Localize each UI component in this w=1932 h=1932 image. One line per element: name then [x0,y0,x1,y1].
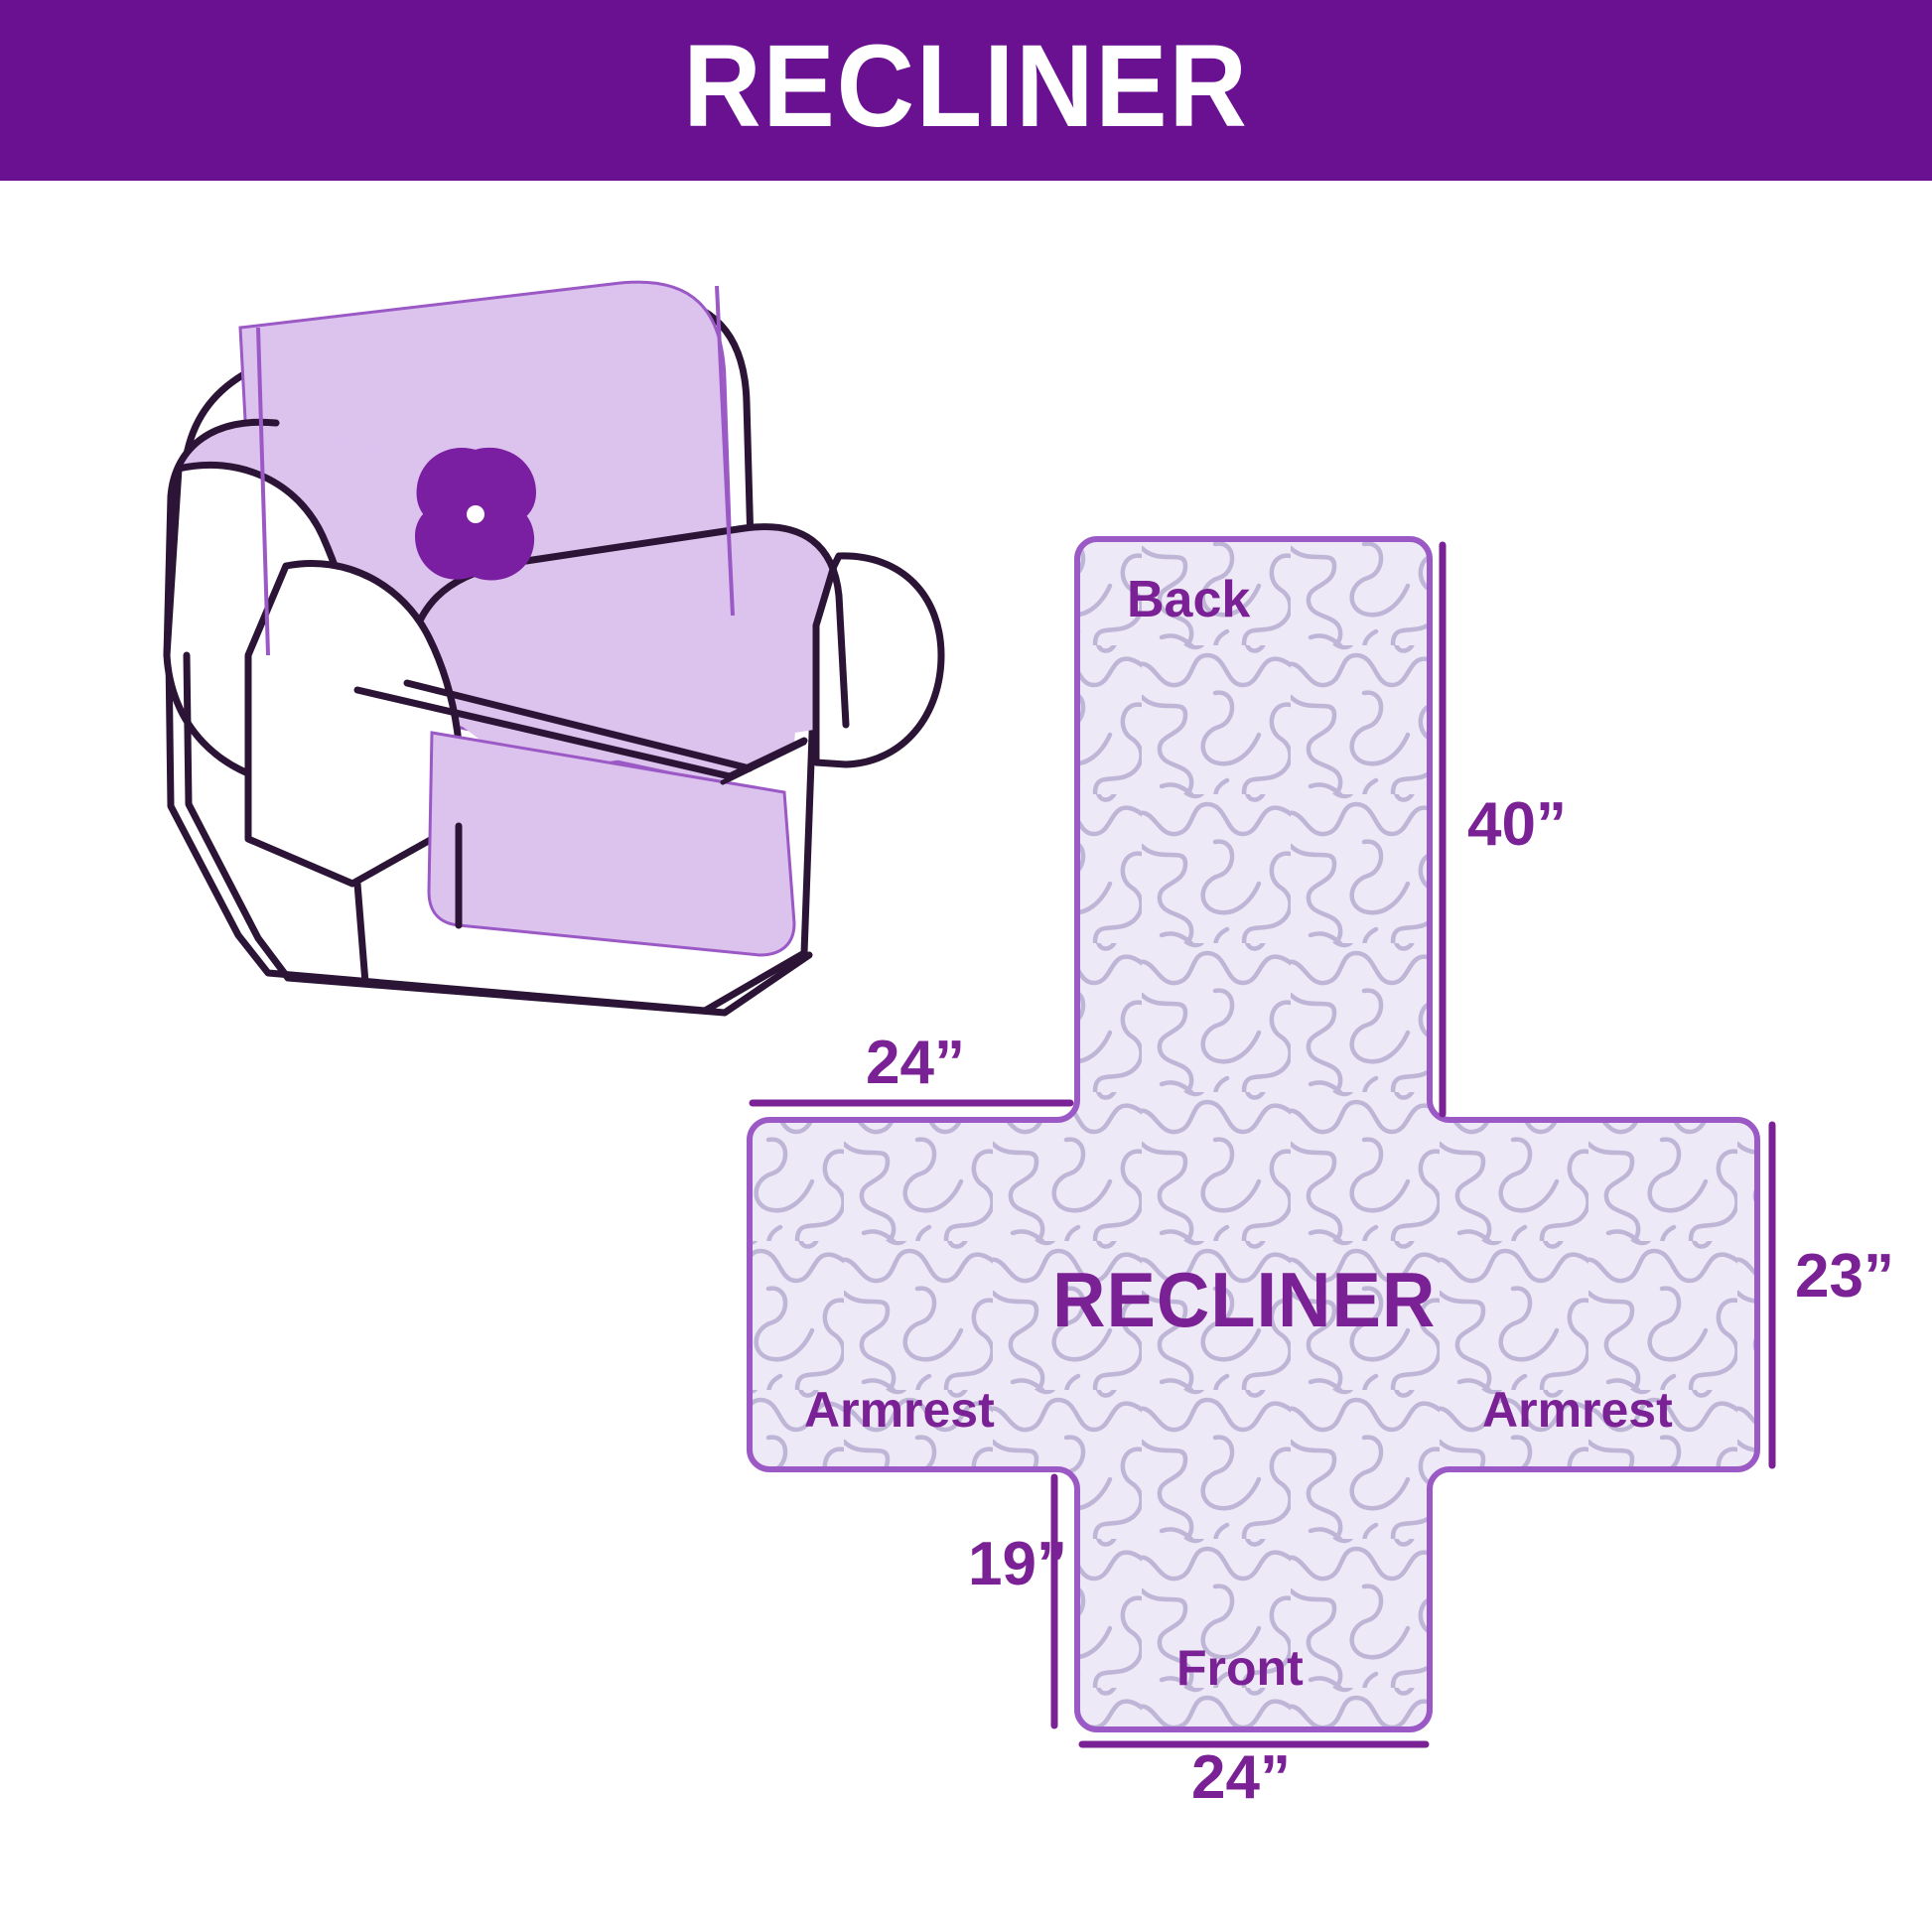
dimension-armrest-width: 24” [866,1033,965,1094]
pinwheel-icon [415,448,536,581]
page-title: RECLINER [77,0,1855,181]
label-armrest-right: Armrest [1482,1385,1673,1435]
label-recliner-center: RECLINER [1052,1261,1436,1338]
page-root: RECLINER .ol{fill:none;stroke:#2B1435;st… [0,0,1932,1932]
header-banner: RECLINER [0,0,1932,181]
dimension-front-height: 19” [968,1534,1067,1595]
dimension-armrest-height: 23” [1795,1246,1894,1308]
label-back: Back [1127,574,1250,625]
slipcover-pattern-diagram [695,496,1932,1847]
label-front: Front [1176,1643,1304,1693]
dimension-front-width: 24” [1191,1747,1291,1809]
cross-pattern-shape [750,539,1757,1729]
dimension-back-height: 40” [1467,794,1567,856]
label-armrest-left: Armrest [804,1385,995,1435]
